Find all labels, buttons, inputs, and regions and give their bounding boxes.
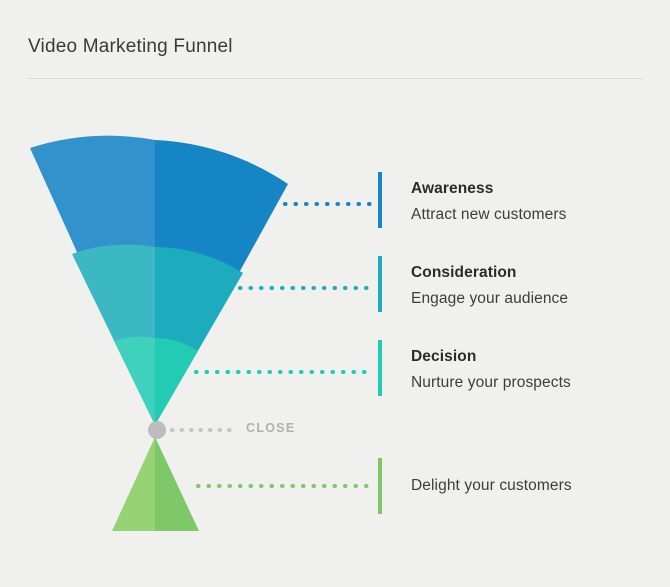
stage-subtitle-delight: Delight your customers bbox=[411, 476, 572, 496]
funnel-segment-delight[interactable] bbox=[112, 437, 199, 531]
stage-accent-bar-delight bbox=[378, 458, 382, 514]
funnel-segment-delight-left bbox=[112, 437, 155, 531]
stage-text-decision: Decision Nurture your prospects bbox=[411, 347, 571, 393]
stage-accent-bar-awareness bbox=[378, 172, 382, 228]
funnel-segment-decision-left bbox=[114, 337, 155, 425]
stage-text-delight: Delight your customers bbox=[411, 476, 572, 496]
funnel-segment-delight-right bbox=[155, 437, 199, 531]
stage-subtitle-awareness: Attract new customers bbox=[411, 205, 566, 225]
stage-title-awareness: Awareness bbox=[411, 179, 566, 199]
stage-accent-bar-decision bbox=[378, 340, 382, 396]
stage-subtitle-consideration: Engage your audience bbox=[411, 289, 568, 309]
close-label: CLOSE bbox=[246, 421, 296, 435]
funnel-infographic-page: Video Marketing Funnel bbox=[0, 0, 670, 587]
stage-text-awareness: Awareness Attract new customers bbox=[411, 179, 566, 225]
stage-title-decision: Decision bbox=[411, 347, 571, 367]
funnel-segment-decision[interactable] bbox=[114, 337, 198, 425]
funnel-diagram bbox=[0, 0, 670, 587]
funnel-segment-decision-right bbox=[155, 338, 198, 425]
stage-title-consideration: Consideration bbox=[411, 263, 568, 283]
stage-subtitle-decision: Nurture your prospects bbox=[411, 373, 571, 393]
close-node-icon[interactable] bbox=[148, 421, 166, 439]
stage-text-consideration: Consideration Engage your audience bbox=[411, 263, 568, 309]
stage-accent-bar-consideration bbox=[378, 256, 382, 312]
